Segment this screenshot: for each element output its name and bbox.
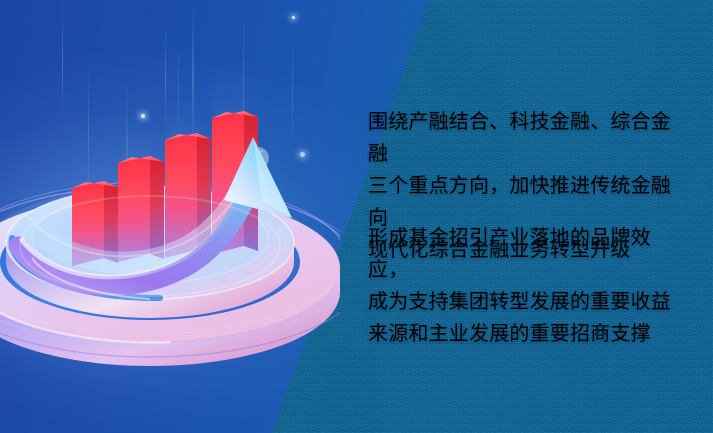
growth-chart-illustration bbox=[0, 0, 340, 433]
bar-2 bbox=[118, 156, 164, 262]
paragraph-brand-effect: 形成基金招引产业落地的品牌效应， 成为支持集团转型发展的重要收益 来源和主业发展… bbox=[368, 222, 680, 350]
banner-canvas: 围绕产融结合、科技金融、综合金融 三个重点方向，加快推进传统金融向 现代化综合金… bbox=[0, 0, 713, 433]
